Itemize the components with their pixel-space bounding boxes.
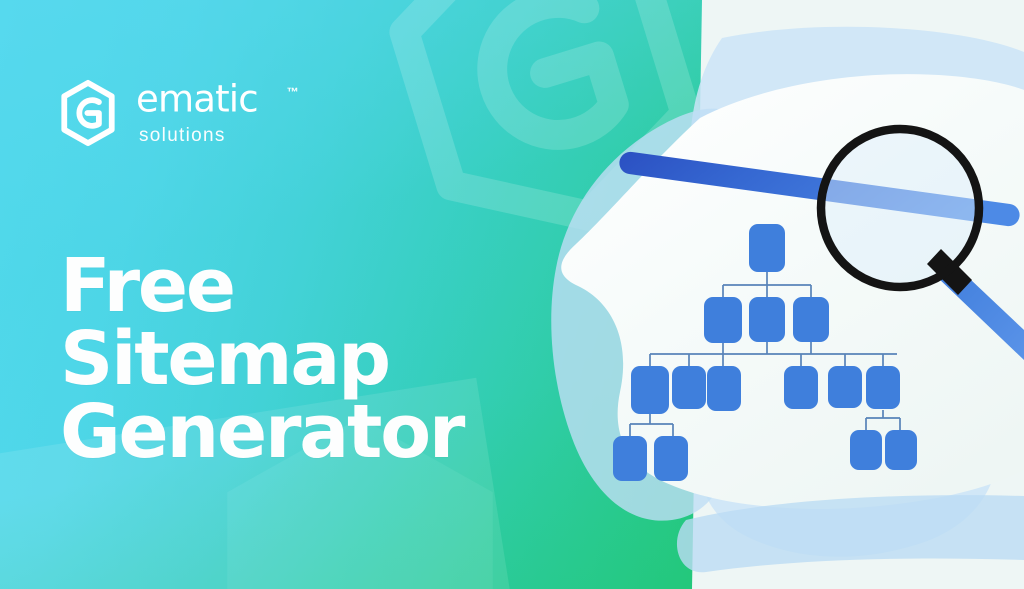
tree-node — [704, 297, 742, 343]
tree-node — [672, 366, 706, 409]
headline-line-1: Free — [60, 250, 580, 323]
tree-node — [749, 224, 785, 272]
hexagon-e-icon — [57, 79, 119, 147]
tree-node — [631, 366, 669, 414]
tree-node — [784, 366, 818, 409]
tree-node — [866, 366, 900, 409]
brand-logo[interactable]: ematic ™ solutions — [57, 79, 286, 147]
tree-node — [654, 436, 688, 481]
tree-node — [828, 366, 862, 408]
tree-node — [707, 366, 741, 411]
tree-node — [749, 297, 785, 342]
tree-node — [793, 297, 829, 342]
trademark-symbol: ™ — [287, 85, 299, 99]
tree-node — [613, 436, 647, 481]
svg-text:ematic: ematic — [136, 81, 258, 120]
headline-line-2: Sitemap — [60, 323, 580, 396]
wordmark-ematic: ematic ™ — [136, 81, 286, 120]
page-title: Free Sitemap Generator — [60, 250, 580, 470]
tree-node — [850, 430, 882, 470]
tree-node — [885, 430, 917, 470]
brand-tagline: solutions — [139, 125, 286, 147]
banner-canvas: ematic ™ solutions Free Sitemap Generato… — [0, 0, 1024, 589]
brand-wordmark: ematic ™ solutions — [136, 79, 286, 147]
headline-line-3: Generator — [60, 396, 580, 469]
